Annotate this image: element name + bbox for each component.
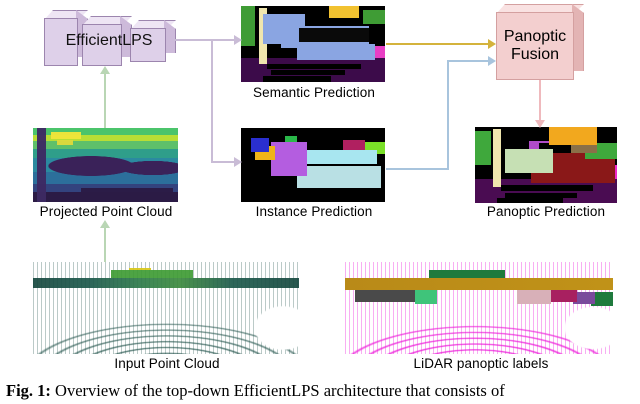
connector-efficientlps-to-instance-horizontal xyxy=(211,161,236,163)
instance-prediction-canvas xyxy=(241,128,385,202)
connector-efficientlps-to-semantic-arrowhead xyxy=(234,35,242,45)
panel-semantic-prediction[interactable] xyxy=(241,6,385,82)
caption-input-point-cloud: Input Point Cloud xyxy=(38,356,296,371)
input-point-cloud-void xyxy=(33,262,299,354)
panel-input-point-cloud[interactable] xyxy=(33,262,299,354)
figure-caption-text: Overview of the top-down EfficientLPS ar… xyxy=(55,381,505,400)
caption-projected-point-cloud: Projected Point Cloud xyxy=(0,204,212,219)
connector-instance-to-fusion-arrowhead xyxy=(488,56,496,66)
panel-projected-point-cloud[interactable] xyxy=(33,128,178,202)
connector-projected-to-efficientlps-arrowhead xyxy=(100,66,110,74)
connector-efficientlps-to-semantic xyxy=(174,39,236,41)
panoptic-prediction-shadow xyxy=(475,127,617,203)
connector-semantic-to-fusion xyxy=(386,43,490,45)
connector-instance-to-fusion-seg2 xyxy=(447,60,449,170)
connector-semantic-to-fusion-arrowhead xyxy=(488,39,496,49)
projected-point-cloud-detail xyxy=(33,128,178,202)
figure-root: EfficientLPS Panoptic Fusion Projected P… xyxy=(0,0,640,404)
connector-fusion-to-panoptic-prediction xyxy=(539,80,541,122)
panel-panoptic-prediction[interactable] xyxy=(475,127,617,203)
block-panoptic-fusion-label: Panoptic Fusion xyxy=(496,12,574,80)
semantic-prediction-shadow xyxy=(241,6,385,82)
caption-panoptic-prediction: Panoptic Prediction xyxy=(455,204,637,219)
panel-lidar-panoptic-labels[interactable] xyxy=(345,262,613,354)
connector-instance-to-fusion-seg3 xyxy=(447,60,491,62)
caption-lidar-panoptic-labels: LiDAR panoptic labels xyxy=(352,356,610,371)
lidar-panoptic-labels-void xyxy=(345,262,613,354)
block-efficientlps-label: EfficientLPS xyxy=(44,30,174,52)
panel-instance-prediction[interactable] xyxy=(241,128,385,202)
connector-input-to-projected-arrowhead xyxy=(100,220,110,228)
figure-caption: Fig. 1: Overview of the top-down Efficie… xyxy=(6,381,640,401)
block-panoptic-fusion[interactable]: Panoptic Fusion xyxy=(496,4,584,80)
caption-instance-prediction: Instance Prediction xyxy=(221,204,407,219)
connector-instance-to-fusion-seg1 xyxy=(386,168,448,170)
connector-fusion-to-panoptic-prediction-arrowhead xyxy=(535,120,545,128)
caption-semantic-prediction: Semantic Prediction xyxy=(221,85,407,100)
connector-projected-to-efficientlps xyxy=(104,72,106,128)
connector-efficientlps-to-instance-vertical xyxy=(211,39,213,163)
connector-efficientlps-to-instance-arrowhead xyxy=(234,157,242,167)
connector-input-to-projected xyxy=(104,226,106,262)
figure-caption-label: Fig. 1: xyxy=(6,381,51,400)
